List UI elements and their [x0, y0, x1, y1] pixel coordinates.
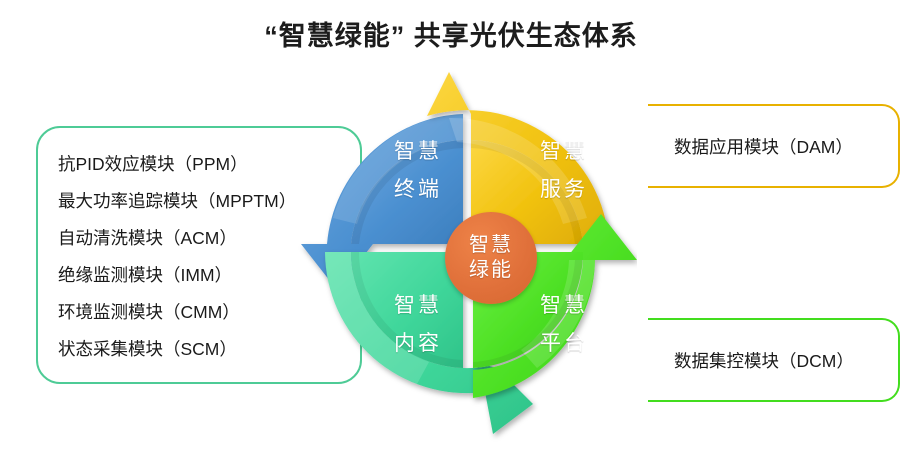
- page-title: “智慧绿能” 共享光伏生态体系: [0, 14, 902, 53]
- center-hub: 智慧 绿能: [445, 212, 537, 304]
- panel-dcm-label: 数据集控模块（DCM）: [674, 348, 854, 373]
- panel-data-control-module: 数据集控模块（DCM）: [648, 318, 900, 402]
- panel-dam-label: 数据应用模块（DAM）: [674, 134, 853, 159]
- panel-data-application-module: 数据应用模块（DAM）: [648, 104, 900, 188]
